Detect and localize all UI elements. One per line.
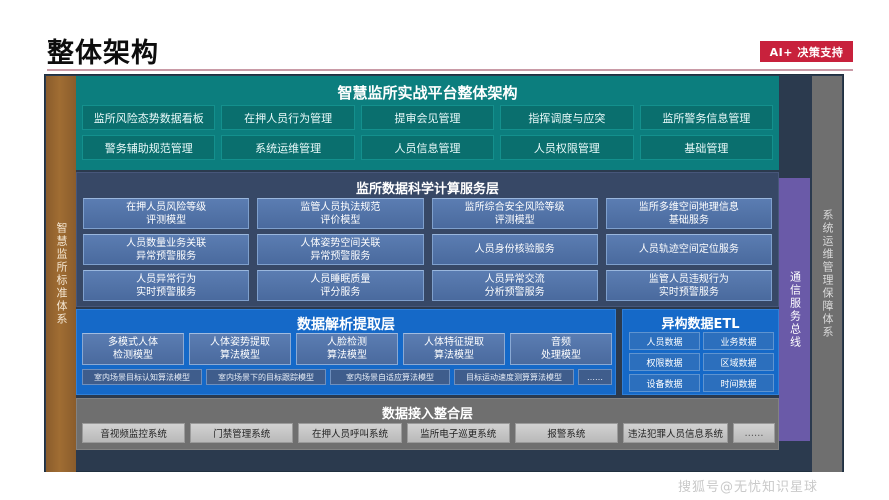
app-box[interactable]: 人员信息管理	[361, 135, 494, 160]
parsing-model-box[interactable]: 音频处理模型	[510, 333, 612, 365]
access-system-box[interactable]: 监所电子巡更系统	[407, 423, 510, 443]
data-access-layer-title: 数据接入整合层	[77, 399, 778, 422]
ops-guarantee-sidebar: 系统运维管理保障体系	[812, 76, 842, 472]
application-row-2: 警务辅助规范管理 系统运维管理 人员信息管理 人员权限管理 基础管理	[82, 135, 773, 160]
parsing-model-box[interactable]: 人体姿势提取算法模型	[189, 333, 291, 365]
access-system-box[interactable]: 在押人员呼叫系统	[298, 423, 401, 443]
science-box[interactable]: 人员异常交流分析预警服务	[432, 270, 598, 301]
science-box[interactable]: 监管人员执法规范评价模型	[257, 198, 423, 229]
science-box[interactable]: 人员轨迹空间定位服务	[606, 234, 772, 265]
data-parsing-layer-title: 数据解析提取层	[77, 310, 615, 334]
data-science-layer: 监所数据科学计算服务层 在押人员风险等级评测模型 监管人员执法规范评价模型 监所…	[76, 172, 779, 307]
standard-system-sidebar: 智慧监所标准体系	[46, 76, 76, 472]
algorithm-box[interactable]: 室内场景目标认知算法模型	[82, 369, 202, 385]
application-box-rows: 监所风险态势数据看板 在押人员行为管理 提审会见管理 指挥调度与应突 监所警务信…	[82, 105, 773, 165]
science-row-3: 人员异常行为实时预警服务 人员睡眠质量评分服务 人员异常交流分析预警服务 监管人…	[83, 270, 772, 301]
science-box[interactable]: 人体姿势空间关联异常预警服务	[257, 234, 423, 265]
etl-data-box[interactable]: 权限数据	[629, 353, 700, 371]
app-box[interactable]: 在押人员行为管理	[221, 105, 354, 130]
application-layer: 智慧监所实战平台整体架构 监所风险态势数据看板 在押人员行为管理 提审会见管理 …	[76, 76, 779, 170]
access-system-box[interactable]: 报警系统	[515, 423, 618, 443]
data-access-layer: 数据接入整合层 音视频监控系统 门禁管理系统 在押人员呼叫系统 监所电子巡更系统…	[76, 398, 779, 450]
page-header: 整体架构 AI+ 决策支持	[0, 0, 889, 72]
app-box[interactable]: 基础管理	[640, 135, 773, 160]
science-box[interactable]: 监所多维空间地理信息基础服务	[606, 198, 772, 229]
data-science-box-rows: 在押人员风险等级评测模型 监管人员执法规范评价模型 监所综合安全风险等级评测模型…	[83, 198, 772, 306]
application-layer-title: 智慧监所实战平台整体架构	[76, 76, 779, 103]
access-system-box[interactable]: 音视频监控系统	[82, 423, 185, 443]
parsing-model-row: 多模式人体检测模型 人体姿势提取算法模型 人脸检测算法模型 人体特征提取算法模型…	[82, 333, 612, 365]
etl-data-box[interactable]: 设备数据	[629, 374, 700, 392]
science-box[interactable]: 人员异常行为实时预警服务	[83, 270, 249, 301]
parsing-model-box[interactable]: 多模式人体检测模型	[82, 333, 184, 365]
science-box[interactable]: 人员数量业务关联异常预警服务	[83, 234, 249, 265]
status-badge: AI+ 决策支持	[760, 41, 853, 62]
watermark: 搜狐号@无忧知识星球	[678, 476, 818, 495]
science-box[interactable]: 在押人员风险等级评测模型	[83, 198, 249, 229]
etl-data-box[interactable]: 区域数据	[703, 353, 774, 371]
parsing-box-rows: 多模式人体检测模型 人体姿势提取算法模型 人脸检测算法模型 人体特征提取算法模型…	[82, 333, 612, 385]
science-box[interactable]: 监所综合安全风险等级评测模型	[432, 198, 598, 229]
access-system-box[interactable]: 违法犯罪人员信息系统	[623, 423, 728, 443]
heterogeneous-etl-panel: 异构数据ETL 人员数据 业务数据 权限数据 区域数据 设备数据 时间数据	[622, 309, 779, 395]
application-row-1: 监所风险态势数据看板 在押人员行为管理 提审会见管理 指挥调度与应突 监所警务信…	[82, 105, 773, 130]
etl-data-box[interactable]: 时间数据	[703, 374, 774, 392]
app-box[interactable]: 警务辅助规范管理	[82, 135, 215, 160]
algorithm-box[interactable]: 室内场景自适应算法模型	[330, 369, 450, 385]
app-box[interactable]: 监所警务信息管理	[640, 105, 773, 130]
app-box[interactable]: 系统运维管理	[221, 135, 354, 160]
parsing-algorithm-row: 室内场景目标认知算法模型 室内场景下的目标跟踪模型 室内场景自适应算法模型 目标…	[82, 369, 612, 385]
science-row-2: 人员数量业务关联异常预警服务 人体姿势空间关联异常预警服务 人员身份核验服务 人…	[83, 234, 772, 265]
access-system-more-box[interactable]: ……	[733, 423, 775, 443]
parsing-model-box[interactable]: 人体特征提取算法模型	[403, 333, 505, 365]
etl-data-grid: 人员数据 业务数据 权限数据 区域数据 设备数据 时间数据	[629, 332, 774, 392]
etl-panel-title: 异构数据ETL	[623, 310, 778, 332]
parsing-model-box[interactable]: 人脸检测算法模型	[296, 333, 398, 365]
science-box[interactable]: 人员睡眠质量评分服务	[257, 270, 423, 301]
etl-data-box[interactable]: 人员数据	[629, 332, 700, 350]
app-box[interactable]: 提审会见管理	[361, 105, 494, 130]
science-box[interactable]: 人员身份核验服务	[432, 234, 598, 265]
data-science-layer-title: 监所数据科学计算服务层	[77, 173, 778, 197]
architecture-diagram: 智慧监所标准体系 系统运维管理保障体系 智慧监所实战平台整体架构 监所风险态势数…	[44, 74, 844, 472]
communication-bus-bar: 通信服务总线	[779, 178, 810, 441]
algorithm-more-box[interactable]: ……	[578, 369, 612, 385]
science-row-1: 在押人员风险等级评测模型 监管人员执法规范评价模型 监所综合安全风险等级评测模型…	[83, 198, 772, 229]
app-box[interactable]: 人员权限管理	[500, 135, 633, 160]
algorithm-box[interactable]: 目标运动速度测算算法模型	[454, 369, 574, 385]
etl-data-box[interactable]: 业务数据	[703, 332, 774, 350]
access-system-row: 音视频监控系统 门禁管理系统 在押人员呼叫系统 监所电子巡更系统 报警系统 违法…	[82, 423, 775, 443]
access-system-box[interactable]: 门禁管理系统	[190, 423, 293, 443]
algorithm-box[interactable]: 室内场景下的目标跟踪模型	[206, 369, 326, 385]
app-box[interactable]: 指挥调度与应突	[500, 105, 633, 130]
app-box[interactable]: 监所风险态势数据看板	[82, 105, 215, 130]
science-box[interactable]: 监管人员违规行为实时预警服务	[606, 270, 772, 301]
data-parsing-layer: 数据解析提取层 多模式人体检测模型 人体姿势提取算法模型 人脸检测算法模型 人体…	[76, 309, 616, 395]
architecture-content: 智慧监所实战平台整体架构 监所风险态势数据看板 在押人员行为管理 提审会见管理 …	[76, 76, 813, 472]
title-divider	[47, 69, 853, 71]
page-title: 整体架构	[47, 31, 159, 70]
